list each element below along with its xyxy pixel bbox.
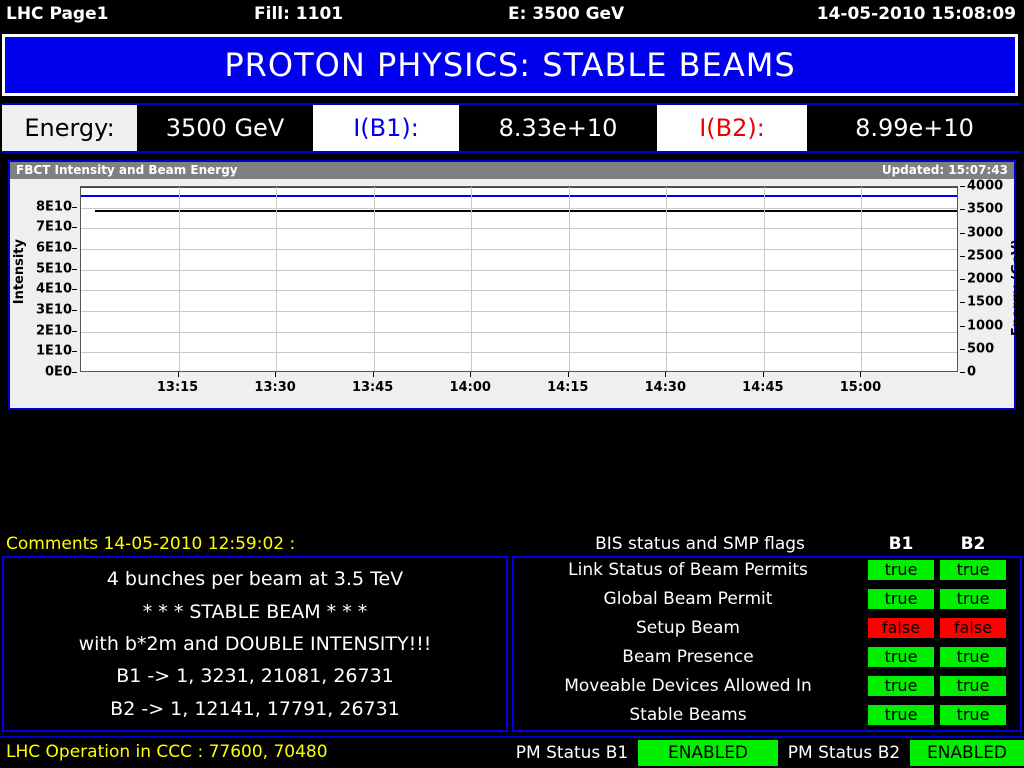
y-tick-mark: [72, 269, 77, 270]
fbct-chart-panel: FBCT Intensity and Beam Energy Updated: …: [8, 160, 1016, 410]
lhc-operation-text: LHC Operation in CCC : 77600, 70480: [6, 742, 328, 762]
grid-line-horizontal: [81, 270, 957, 271]
y2-tick-mark: [960, 302, 965, 303]
lhc-page1-root: LHC Page1 Fill: 1101 E: 3500 GeV 14-05-2…: [0, 0, 1024, 768]
bis-column-b1: B1: [868, 534, 934, 554]
grid-line-horizontal: [81, 332, 957, 333]
y-tick-label: 4E10: [36, 282, 72, 297]
energy-label: Energy:: [2, 105, 137, 151]
grid-line-vertical: [569, 187, 570, 371]
x-tick-label: 14:45: [742, 380, 783, 395]
bis-row-label: Global Beam Permit: [514, 588, 862, 610]
bis-row: Moveable Devices Allowed Intruetrue: [514, 674, 1020, 703]
page-title: LHC Page1: [6, 4, 108, 24]
y-tick-label: 0E0: [45, 365, 72, 380]
bis-row-label: Beam Presence: [514, 646, 862, 668]
series-line-energy: [95, 210, 957, 212]
bis-status-badge-b2: true: [940, 676, 1006, 696]
chart-updated-time: Updated: 15:07:43: [882, 163, 1008, 177]
bis-status-panel: Link Status of Beam PermitstruetrueGloba…: [512, 556, 1022, 732]
footer-bar: LHC Operation in CCC : 77600, 70480 PM S…: [0, 736, 1024, 768]
intensity-b1-label: I(B1):: [313, 105, 459, 151]
x-tick-label: 13:15: [157, 380, 198, 395]
grid-line-horizontal: [81, 352, 957, 353]
y-tick-label: 7E10: [36, 220, 72, 235]
bis-header: BIS status and SMP flags: [520, 534, 880, 554]
x-tick-mark: [860, 372, 861, 377]
y2-tick-mark: [960, 233, 965, 234]
y2-tick-mark: [960, 186, 965, 187]
y-tick-label: 8E10: [36, 199, 72, 214]
grid-line-vertical: [471, 187, 472, 371]
bis-status-badge-b1: false: [868, 618, 934, 638]
intensity-b2-value: 8.99e+10: [807, 105, 1022, 151]
y-axis-left: 0E01E102E103E104E105E106E107E108E10: [10, 186, 72, 372]
x-tick-label: 13:30: [254, 380, 295, 395]
grid-line-vertical: [764, 187, 765, 371]
bis-row: Link Status of Beam Permitstruetrue: [514, 558, 1020, 587]
comment-line: 4 bunches per beam at 3.5 TeV: [107, 568, 403, 590]
grid-line-horizontal: [81, 311, 957, 312]
y2-tick-label: 2000: [967, 272, 1003, 287]
y2-tick-mark: [960, 372, 965, 373]
grid-line-horizontal: [81, 208, 957, 209]
y2-tick-label: 3500: [967, 202, 1003, 217]
comment-line: * * * STABLE BEAM * * *: [143, 601, 368, 623]
grid-line-horizontal: [81, 249, 957, 250]
y2-tick-label: 1000: [967, 318, 1003, 333]
grid-line-vertical: [374, 187, 375, 371]
bis-status-badge-b1: true: [868, 589, 934, 609]
x-tick-label: 13:45: [352, 380, 393, 395]
pm-status-b1-value: ENABLED: [638, 740, 778, 766]
y-tick-mark: [72, 289, 77, 290]
y2-tick-mark: [960, 326, 965, 327]
comment-line: B2 -> 1, 12141, 17791, 26731: [110, 698, 400, 720]
x-tick-label: 14:30: [645, 380, 686, 395]
mode-banner-text: PROTON PHYSICS: STABLE BEAMS: [224, 46, 795, 84]
y2-tick-label: 500: [967, 341, 994, 356]
y-tick-mark: [72, 372, 77, 373]
bis-status-badge-b1: true: [868, 647, 934, 667]
bis-status-badge-b2: true: [940, 560, 1006, 580]
pm-status-b2-value: ENABLED: [910, 740, 1024, 766]
comment-line: B1 -> 1, 3231, 21081, 26731: [116, 665, 394, 687]
y-tick-mark: [72, 248, 77, 249]
x-tick-mark: [665, 372, 666, 377]
series-line-b2: [81, 186, 957, 188]
y-tick-label: 3E10: [36, 303, 72, 318]
intensity-b1-value: 8.33e+10: [459, 105, 657, 151]
top-status-bar: LHC Page1 Fill: 1101 E: 3500 GeV 14-05-2…: [0, 0, 1024, 28]
grid-line-horizontal: [81, 290, 957, 291]
bis-row-label: Link Status of Beam Permits: [514, 559, 862, 581]
energy-intensity-row: Energy: 3500 GeV I(B1): 8.33e+10 I(B2): …: [2, 103, 1022, 153]
bis-status-badge-b2: true: [940, 647, 1006, 667]
fill-number: Fill: 1101: [254, 4, 343, 24]
grid-line-vertical: [179, 187, 180, 371]
y-tick-mark: [72, 331, 77, 332]
bis-row: Stable Beamstruetrue: [514, 703, 1020, 732]
timestamp: 14-05-2010 15:08:09: [817, 4, 1016, 24]
x-tick-mark: [568, 372, 569, 377]
chart-plot-area: [80, 186, 958, 372]
comments-header: Comments 14-05-2010 12:59:02 :: [6, 534, 295, 554]
bis-row: Setup Beamfalsefalse: [514, 616, 1020, 645]
bis-status-badge-b1: true: [868, 676, 934, 696]
bis-status-badge-b2: true: [940, 705, 1006, 725]
y2-tick-label: 4000: [967, 179, 1003, 194]
grid-line-horizontal: [81, 228, 957, 229]
pm-status-b2-label: PM Status B2: [780, 740, 908, 766]
energy-value: 3500 GeV: [137, 105, 313, 151]
y-tick-mark: [72, 227, 77, 228]
x-tick-mark: [275, 372, 276, 377]
y2-tick-label: 2500: [967, 248, 1003, 263]
bis-status-badge-b1: true: [868, 560, 934, 580]
grid-line-vertical: [666, 187, 667, 371]
beam-energy-readout: E: 3500 GeV: [508, 4, 624, 24]
chart-title: FBCT Intensity and Beam Energy: [16, 163, 238, 177]
bis-status-badge-b1: true: [868, 705, 934, 725]
y-axis-right: 05001000150020002500300035004000: [960, 186, 1020, 372]
x-tick-mark: [373, 372, 374, 377]
x-tick-label: 15:00: [840, 380, 881, 395]
y2-tick-mark: [960, 209, 965, 210]
bis-row: Global Beam Permittruetrue: [514, 587, 1020, 616]
bis-row: Beam Presencetruetrue: [514, 645, 1020, 674]
y-tick-label: 1E10: [36, 344, 72, 359]
x-tick-mark: [763, 372, 764, 377]
chart-title-bar: FBCT Intensity and Beam Energy Updated: …: [10, 162, 1014, 179]
mode-banner: PROTON PHYSICS: STABLE BEAMS: [2, 34, 1018, 96]
bis-status-badge-b2: false: [940, 618, 1006, 638]
bis-row-label: Stable Beams: [514, 704, 862, 726]
grid-line-vertical: [276, 187, 277, 371]
x-tick-label: 14:15: [547, 380, 588, 395]
bis-status-badge-b2: true: [940, 589, 1006, 609]
y-tick-mark: [72, 310, 77, 311]
y-tick-label: 2E10: [36, 323, 72, 338]
y2-tick-label: 3000: [967, 225, 1003, 240]
y2-tick-label: 1500: [967, 295, 1003, 310]
comments-panel: 4 bunches per beam at 3.5 TeV* * * STABL…: [2, 556, 508, 732]
y-tick-label: 5E10: [36, 261, 72, 276]
y-tick-label: 6E10: [36, 241, 72, 256]
y-tick-mark: [72, 351, 77, 352]
bis-column-b2: B2: [940, 534, 1006, 554]
pm-status-b1-label: PM Status B1: [508, 740, 636, 766]
y2-tick-label: 0: [967, 365, 976, 380]
intensity-b2-label: I(B2):: [657, 105, 807, 151]
chart-plot-region: Intensity Energy (GeV) 0E01E102E103E104E…: [10, 179, 1014, 408]
comment-line: with b*2m and DOUBLE INTENSITY!!!: [79, 633, 432, 655]
series-line-b1: [81, 195, 957, 197]
x-tick-mark: [178, 372, 179, 377]
x-axis: 13:1513:3013:4514:0014:1514:3014:4515:00: [80, 372, 958, 402]
y2-tick-mark: [960, 256, 965, 257]
y-tick-mark: [72, 207, 77, 208]
bis-row-label: Setup Beam: [514, 617, 862, 639]
y2-tick-mark: [960, 349, 965, 350]
y2-tick-mark: [960, 279, 965, 280]
x-tick-mark: [470, 372, 471, 377]
bis-row-label: Moveable Devices Allowed In: [514, 675, 862, 697]
x-tick-label: 14:00: [450, 380, 491, 395]
grid-line-vertical: [861, 187, 862, 371]
